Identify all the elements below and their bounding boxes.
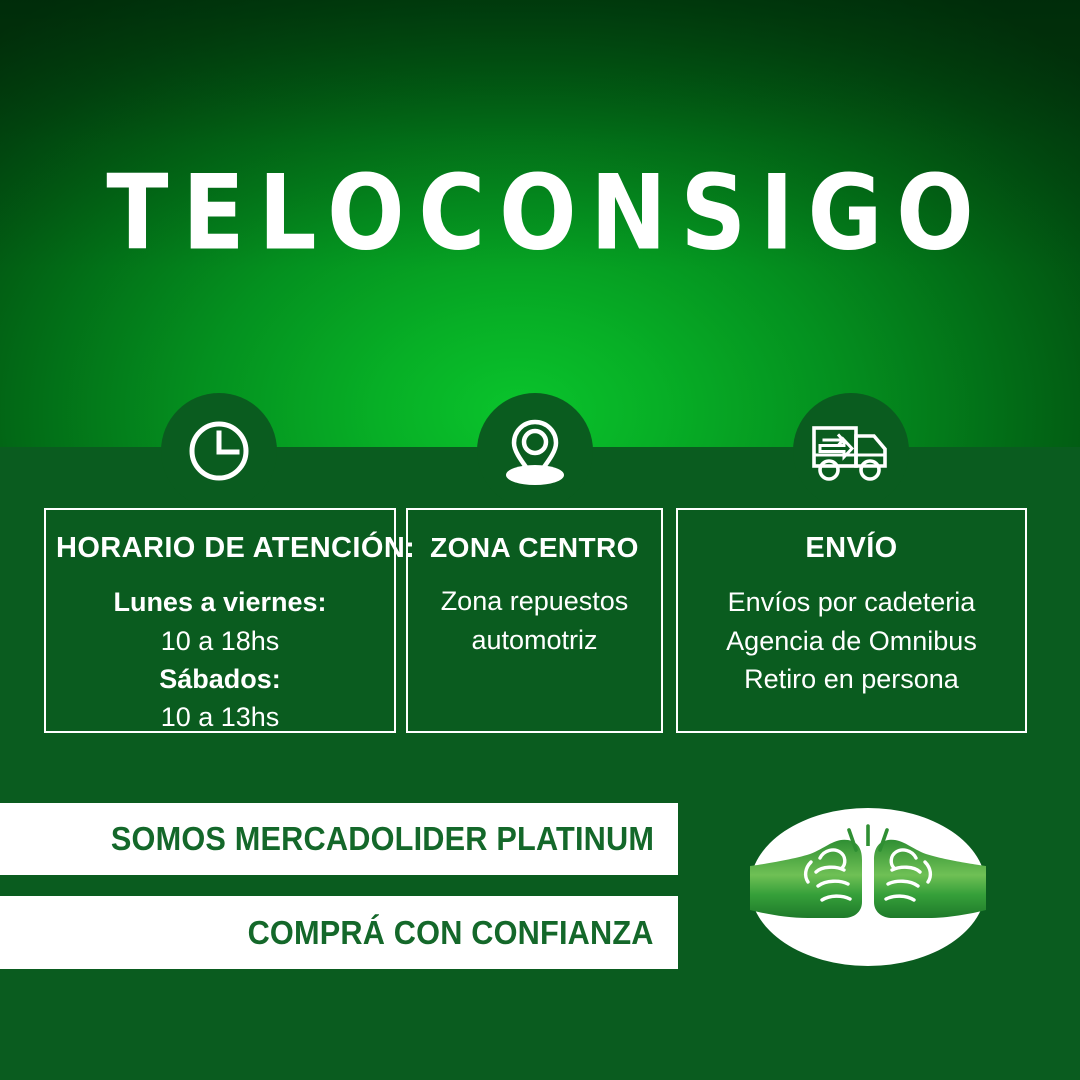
card-line: Sábados: — [56, 660, 384, 698]
info-cards: HORARIO DE ATENCIÓN: Lunes a viernes: 10… — [0, 508, 1080, 734]
delivery-truck-icon — [809, 416, 893, 486]
card-title: HORARIO DE ATENCIÓN: — [56, 532, 384, 565]
clock-icon — [184, 416, 254, 486]
card-line: Zona repuestos — [418, 582, 651, 620]
card-line: 10 a 13hs — [56, 698, 384, 736]
brand-logo-text: TELOCONSIGO — [92, 162, 987, 265]
card-line: Agencia de Omnibus — [688, 622, 1015, 660]
card-line: automotriz — [418, 621, 651, 659]
card-zona: ZONA CENTRO Zona repuestos automotriz — [406, 508, 663, 733]
location-pin-icon — [496, 412, 574, 490]
card-horario: HORARIO DE ATENCIÓN: Lunes a viernes: 10… — [44, 508, 396, 733]
delivery-truck-icon-cap — [793, 393, 909, 509]
card-title: ZONA CENTRO — [418, 532, 651, 564]
banner-text: COMPRÁ CON CONFIANZA — [248, 914, 654, 952]
card-line: 10 a 18hs — [56, 622, 384, 660]
banner-text: SOMOS MERCADOLIDER PLATINUM — [111, 820, 654, 858]
poster: TELOCONSIGO — [0, 0, 1080, 1080]
card-line: Envíos por cadeteria — [688, 583, 1015, 621]
card-title: ENVÍO — [688, 532, 1015, 565]
banner-mercadolider: SOMOS MERCADOLIDER PLATINUM — [0, 803, 678, 875]
fist-bump-badge — [748, 806, 988, 968]
card-line: Retiro en persona — [688, 660, 1015, 698]
brand-logo: TELOCONSIGO — [0, 168, 1080, 260]
card-envio: ENVÍO Envíos por cadeteria Agencia de Om… — [676, 508, 1027, 733]
fist-bump-icon — [748, 806, 988, 968]
location-pin-icon-cap — [477, 393, 593, 509]
icon-caps — [0, 393, 1080, 508]
clock-icon-cap — [161, 393, 277, 509]
banner-confianza: COMPRÁ CON CONFIANZA — [0, 896, 678, 969]
card-line: Lunes a viernes: — [56, 583, 384, 621]
